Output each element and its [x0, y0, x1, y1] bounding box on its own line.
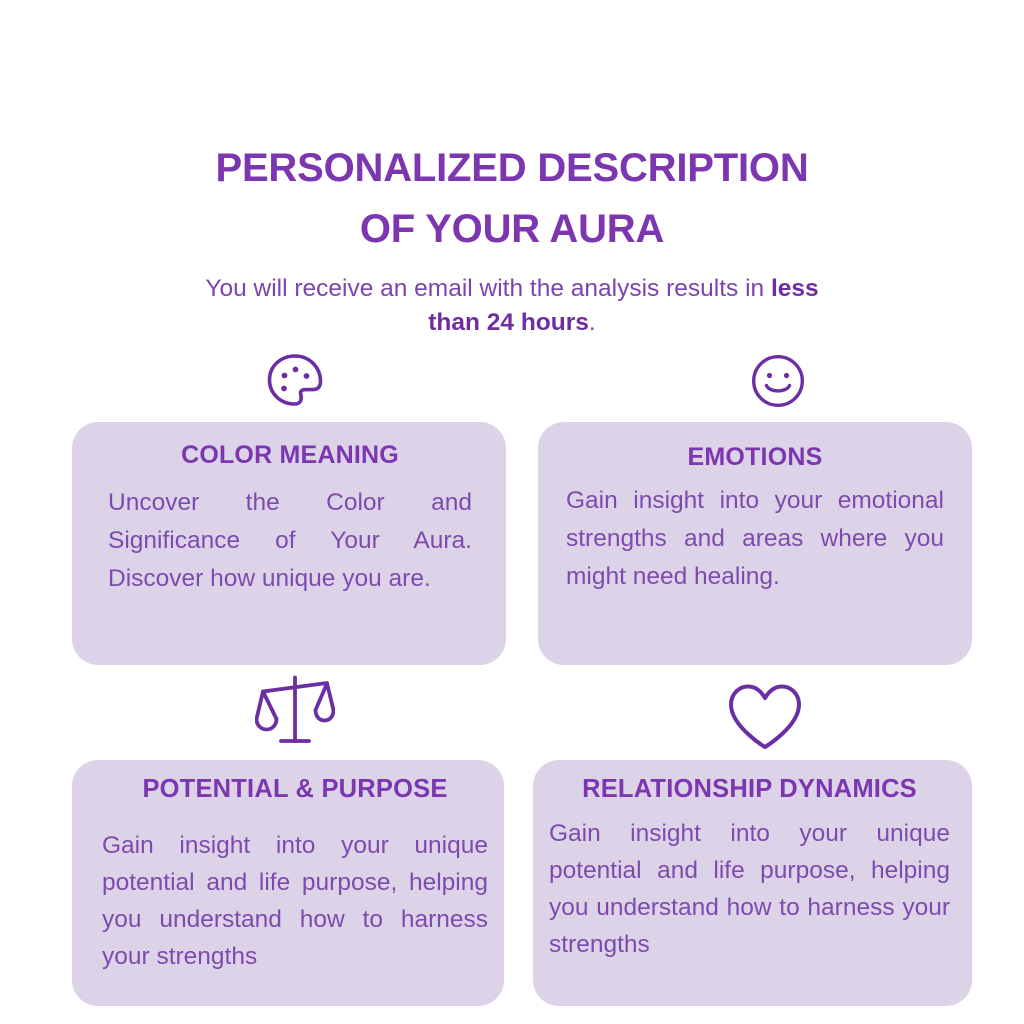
smiley-icon [728, 352, 828, 410]
page-subtitle: You will receive an email with the analy… [192, 272, 832, 342]
palette-icon [245, 352, 345, 410]
card-title: COLOR MEANING [108, 440, 472, 470]
card-title: POTENTIAL & PURPOSE [102, 774, 488, 805]
page-title-line-2: OF YOUR AURA [0, 199, 1024, 260]
card-body: Gain insight into your emotional strengt… [566, 482, 944, 596]
page-title: PERSONALIZED DESCRIPTION OF YOUR AURA [0, 138, 1024, 260]
heart-icon [710, 680, 820, 754]
feature-card-emotions[interactable]: EMOTIONS Gain insight into your emotiona… [538, 422, 972, 665]
scales-icon [240, 672, 350, 752]
page-header: PERSONALIZED DESCRIPTION OF YOUR AURA Yo… [0, 138, 1024, 341]
feature-card-relationship-dynamics[interactable]: RELATIONSHIP DYNAMICS Gain insight into … [533, 760, 972, 1006]
feature-card-potential-purpose[interactable]: POTENTIAL & PURPOSE Gain insight into yo… [72, 760, 504, 1006]
card-body: Uncover the Color and Significance of Yo… [108, 484, 472, 598]
card-title: RELATIONSHIP DYNAMICS [549, 774, 950, 805]
card-body: Gain insight into your unique potential … [102, 827, 488, 976]
feature-card-color-meaning[interactable]: COLOR MEANING Uncover the Color and Sign… [72, 422, 506, 665]
page-title-line-1: PERSONALIZED DESCRIPTION [0, 138, 1024, 199]
aura-description-page: PERSONALIZED DESCRIPTION OF YOUR AURA Yo… [0, 0, 1024, 1024]
subtitle-prefix: You will receive an email with the analy… [205, 275, 771, 302]
card-title: EMOTIONS [566, 442, 944, 472]
subtitle-suffix: . [589, 309, 596, 336]
card-body: Gain insight into your unique potential … [549, 815, 950, 964]
